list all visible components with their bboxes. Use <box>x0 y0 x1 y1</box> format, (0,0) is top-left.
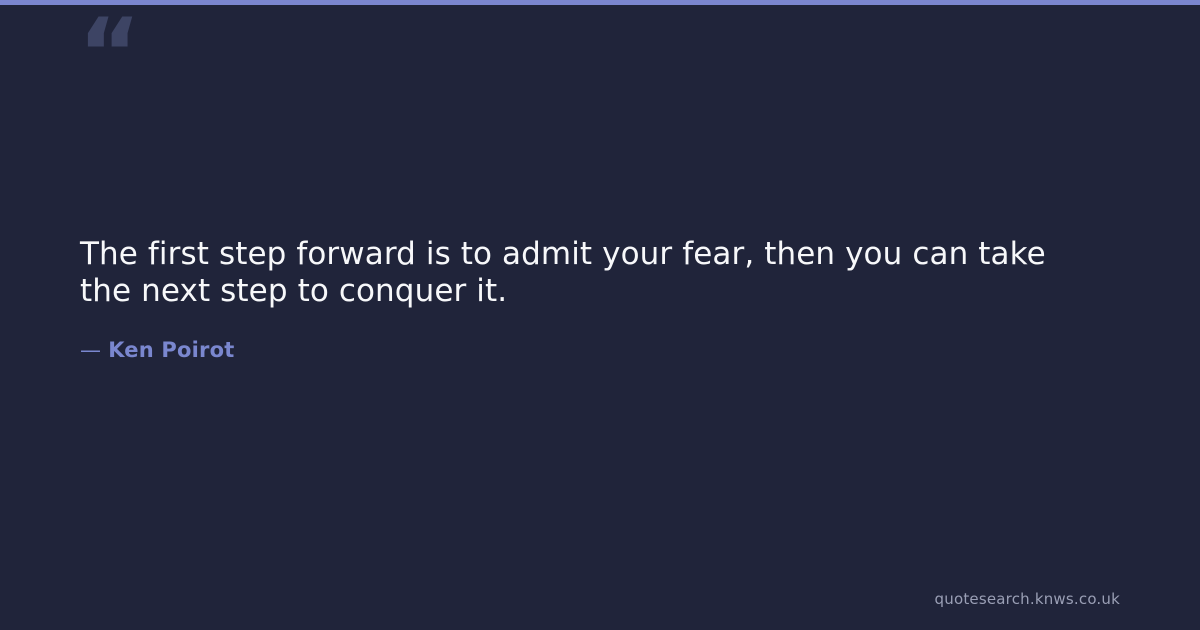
opening-quote-icon: “ <box>78 6 148 96</box>
author-name: Ken Poirot <box>108 338 234 362</box>
quote-card: “ The first step forward is to admit you… <box>0 0 1200 630</box>
quote-content: The first step forward is to admit your … <box>80 236 1090 362</box>
em-dash: — <box>80 338 101 362</box>
top-accent-bar <box>0 0 1200 5</box>
site-watermark: quotesearch.knws.co.uk <box>935 590 1120 608</box>
quote-attribution: —Ken Poirot <box>80 310 1090 362</box>
quote-text: The first step forward is to admit your … <box>80 236 1090 310</box>
